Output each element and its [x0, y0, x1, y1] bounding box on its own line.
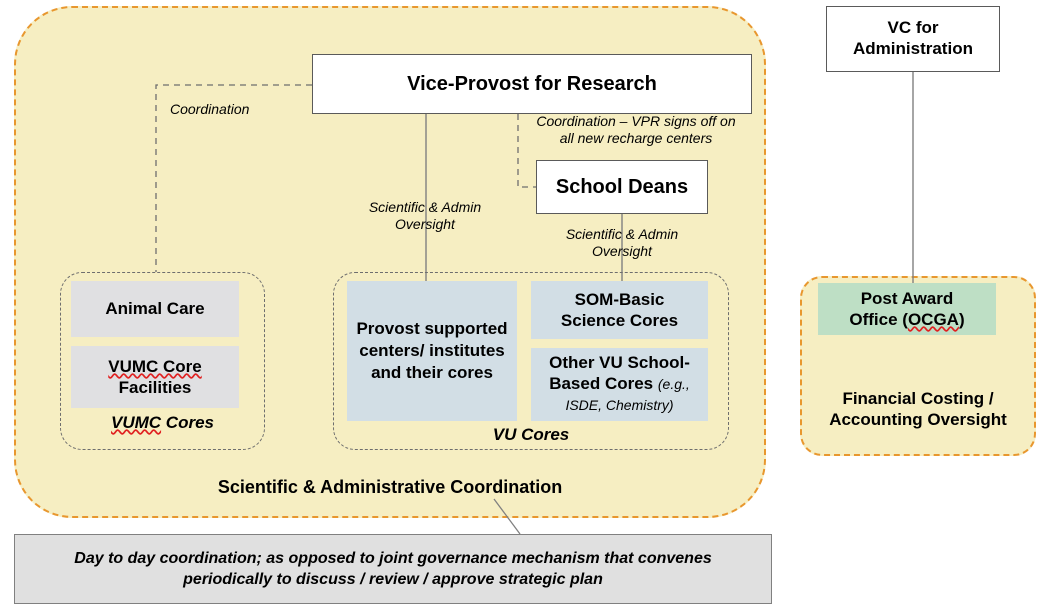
- main-panel-title: Scientific & Administrative Coordination: [14, 477, 766, 498]
- node-som-basic-label: SOM-Basic Science Cores: [561, 289, 678, 332]
- node-vc-for-administration[interactable]: VC for Administration: [826, 6, 1000, 72]
- coordination-note-text: Day to day coordination; as opposed to j…: [43, 548, 743, 590]
- node-vumc-core-facilities[interactable]: VUMC Core Facilities: [71, 346, 239, 408]
- group-caption-vumc-acronym: VUMC: [111, 413, 161, 432]
- node-vice-provost-for-research[interactable]: Vice-Provost for Research: [312, 54, 752, 114]
- node-school-deans-label: School Deans: [556, 176, 688, 199]
- node-school-deans[interactable]: School Deans: [536, 160, 708, 214]
- financial-caption-line2: Accounting Oversight: [829, 410, 1007, 429]
- node-vumc-fac-line1: VUMC Core: [108, 357, 202, 376]
- node-animal-care[interactable]: Animal Care: [71, 281, 239, 337]
- coordination-note-line1: Day to day coordination; as opposed to j…: [74, 550, 633, 567]
- node-vumc-fac-line2: Facilities: [119, 378, 192, 397]
- node-post-award-line2-suffix: ): [959, 310, 965, 329]
- edge-label-vpr-signoff: Coordination – VPR signs off on all new …: [516, 113, 756, 147]
- node-provost-supported-label: Provost supported centers/ institutes an…: [347, 318, 517, 383]
- node-vumc-core-facilities-label: VUMC Core Facilities: [108, 356, 202, 399]
- node-provost-supported-centers[interactable]: Provost supported centers/ institutes an…: [347, 281, 517, 421]
- edge-label-oversight-left-line1: Scientific & Admin: [369, 199, 481, 215]
- group-caption-vumc-rest: Cores: [161, 413, 214, 432]
- node-other-vu-label: Other VU School-Based Cores (e.g., ISDE,…: [535, 353, 704, 415]
- edge-label-oversight-right-line1: Scientific & Admin: [566, 226, 678, 242]
- node-post-award-label: Post Award Office (OCGA): [849, 288, 964, 330]
- node-som-line1: SOM-Basic: [575, 290, 665, 309]
- group-caption-vumc-cores: VUMC Cores: [60, 413, 265, 433]
- node-post-award-line1: Post Award: [861, 289, 954, 308]
- node-som-line2: Science Cores: [561, 311, 678, 330]
- edge-label-vpr-signoff-line1: Coordination – VPR signs off on: [536, 113, 735, 129]
- diagram-canvas: Vice-Provost for Research School Deans V…: [0, 0, 1046, 616]
- node-post-award-acronym: OCGA: [908, 310, 959, 329]
- financial-caption-line1: Financial Costing /: [842, 389, 993, 408]
- group-caption-vu-cores: VU Cores: [333, 425, 729, 445]
- edge-label-vpr-signoff-line2: all new recharge centers: [560, 130, 713, 146]
- node-post-award-line2-prefix: Office (: [849, 310, 908, 329]
- financial-oversight-caption: Financial Costing / Accounting Oversight: [800, 388, 1036, 431]
- node-animal-care-label: Animal Care: [105, 299, 204, 319]
- edge-label-oversight-left-line2: Oversight: [395, 216, 455, 232]
- node-vc-admin-line2: Administration: [853, 39, 973, 58]
- edge-label-coordination: Coordination: [170, 101, 320, 118]
- node-vc-admin-label: VC for Administration: [853, 18, 973, 59]
- edge-label-oversight-right: Scientific & Admin Oversight: [552, 226, 692, 260]
- node-vice-provost-label: Vice-Provost for Research: [407, 73, 657, 96]
- edge-label-oversight-left: Scientific & Admin Oversight: [355, 199, 495, 233]
- coordination-note-box: Day to day coordination; as opposed to j…: [14, 534, 772, 604]
- node-post-award-office[interactable]: Post Award Office (OCGA): [818, 283, 996, 335]
- node-other-vu-school-based-cores[interactable]: Other VU School-Based Cores (e.g., ISDE,…: [531, 348, 708, 421]
- edge-label-oversight-right-line2: Oversight: [592, 243, 652, 259]
- node-vc-admin-line1: VC for: [887, 18, 938, 37]
- node-som-basic-science-cores[interactable]: SOM-Basic Science Cores: [531, 281, 708, 339]
